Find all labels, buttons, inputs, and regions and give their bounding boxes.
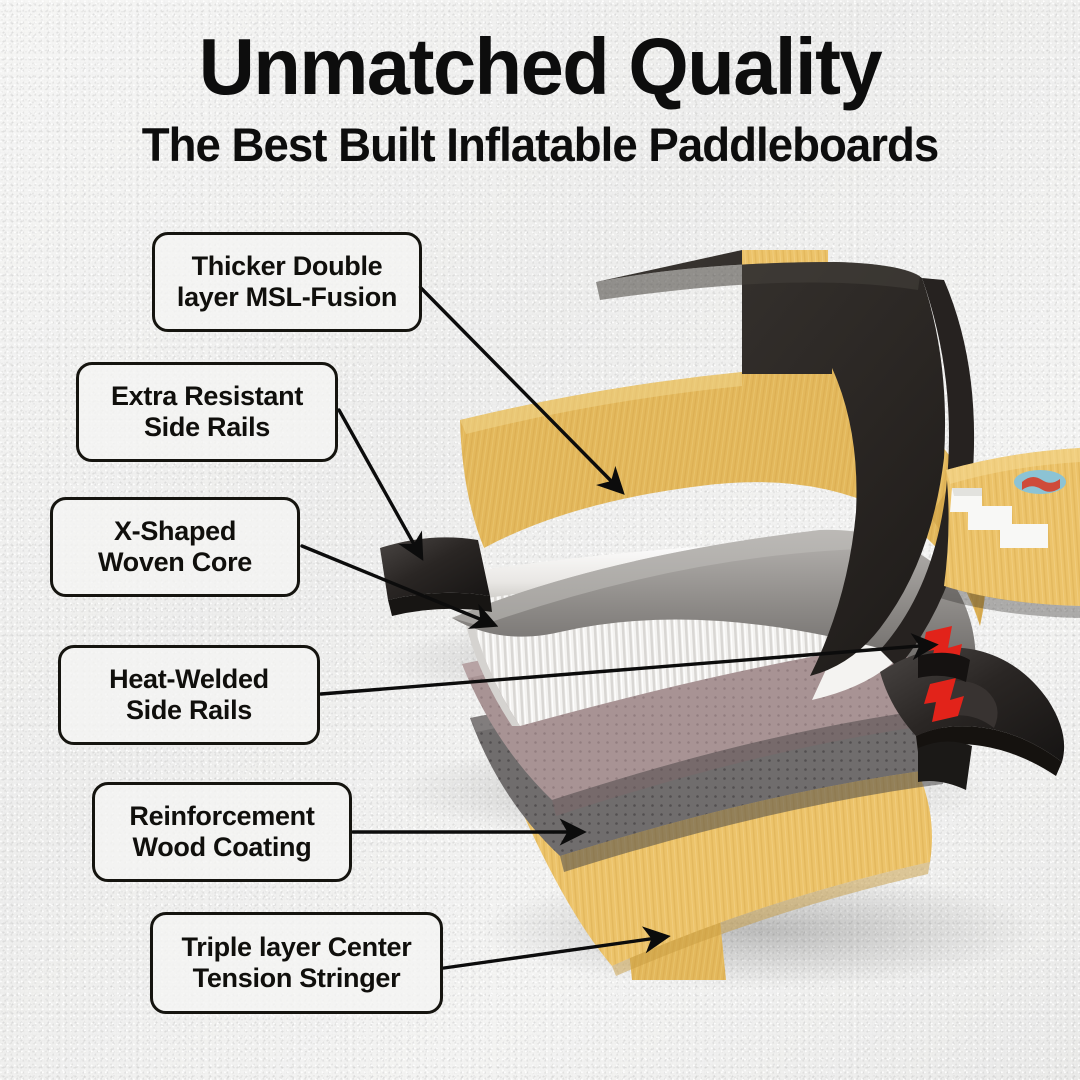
callout-reinforcement-wood-coating: Reinforcement Wood Coating (92, 782, 352, 882)
callout-triple-layer-center-tension-stringer: Triple layer Center Tension Stringer (150, 912, 443, 1014)
callout-label: Triple layer Center Tension Stringer (182, 932, 412, 995)
extra-resistant-side-rail-wedge (380, 537, 492, 616)
board-deck-top (940, 448, 1080, 618)
callout-heat-welded-side-rails: Heat-Welded Side Rails (58, 645, 320, 745)
callout-label: Heat-Welded Side Rails (109, 664, 269, 727)
deck-logo-decal (1014, 470, 1066, 494)
callout-label: Reinforcement Wood Coating (129, 801, 314, 864)
heading-block: Unmatched Quality The Best Built Inflata… (0, 26, 1080, 169)
page-subtitle: The Best Built Inflatable Paddleboards (16, 120, 1064, 169)
callout-label: X-Shaped Woven Core (98, 516, 252, 579)
callout-x-shaped-woven-core: X-Shaped Woven Core (50, 497, 300, 597)
callout-thicker-double-layer-msl-fusion: Thicker Double layer MSL-Fusion (152, 232, 422, 332)
callout-extra-resistant-side-rails: Extra Resistant Side Rails (76, 362, 338, 462)
callout-label: Thicker Double layer MSL-Fusion (177, 251, 397, 314)
callout-label: Extra Resistant Side Rails (111, 381, 303, 444)
page-title: Unmatched Quality (16, 26, 1064, 108)
